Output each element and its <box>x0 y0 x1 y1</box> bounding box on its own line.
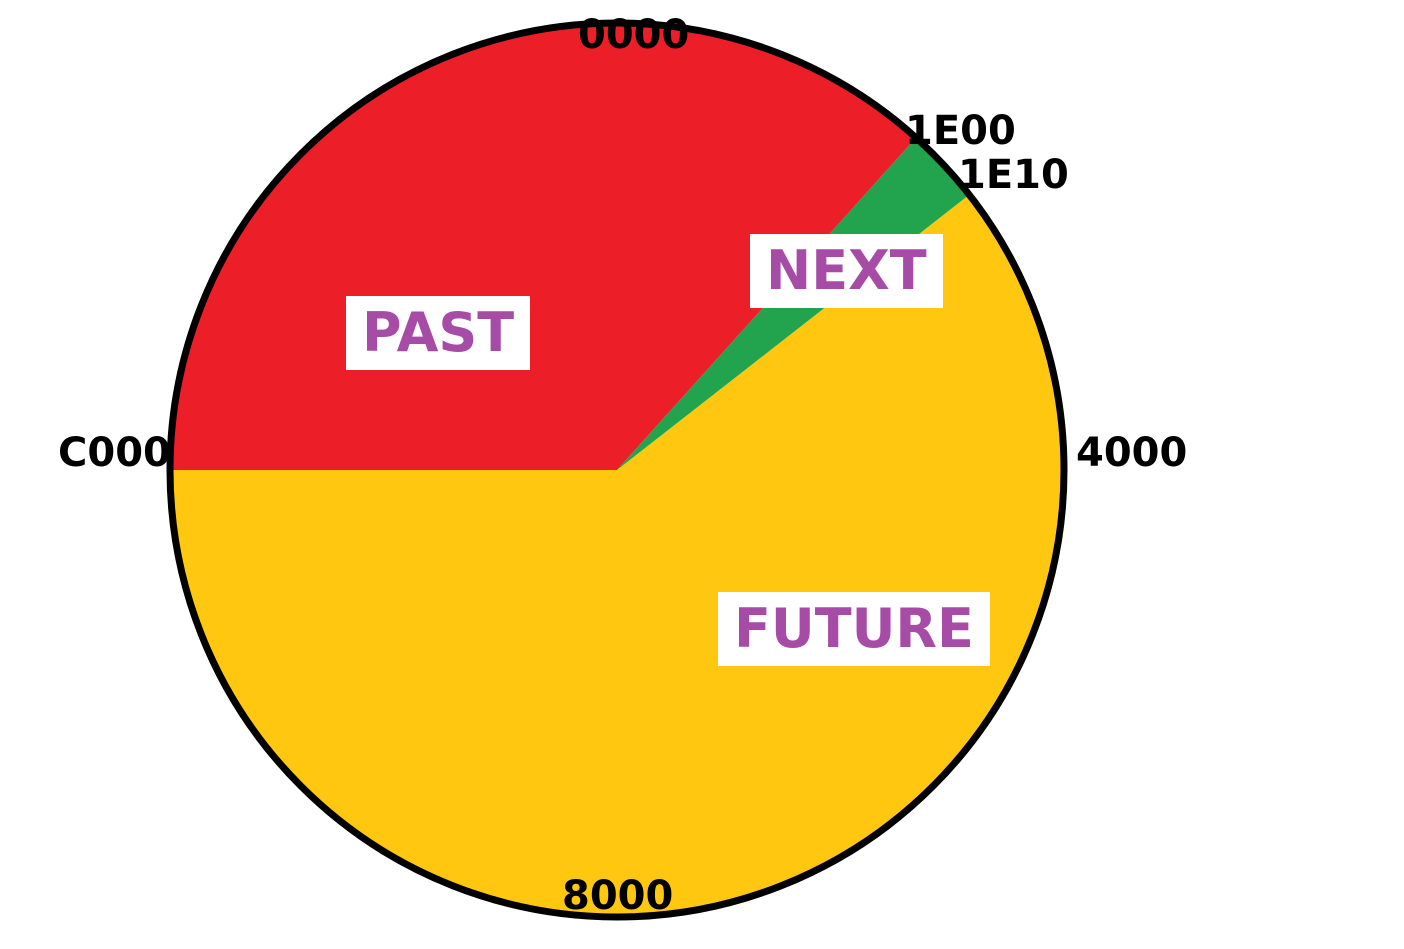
tick-label-C000: C000 <box>58 430 171 476</box>
tick-label-4000: 4000 <box>1076 430 1187 476</box>
tick-label-8000: 8000 <box>562 873 673 919</box>
sector-label-past: PAST <box>346 296 530 370</box>
tick-label-1E00: 1E00 <box>905 108 1016 154</box>
sector-label-next: NEXT <box>750 234 943 308</box>
address-wheel-diagram <box>0 0 1404 949</box>
tick-label-0000: 0000 <box>578 12 689 58</box>
diagram-canvas: 0000 1E00 1E10 4000 8000 C000 PAST NEXT … <box>0 0 1404 949</box>
tick-label-1E10: 1E10 <box>958 152 1069 198</box>
sector-label-future: FUTURE <box>718 592 990 666</box>
